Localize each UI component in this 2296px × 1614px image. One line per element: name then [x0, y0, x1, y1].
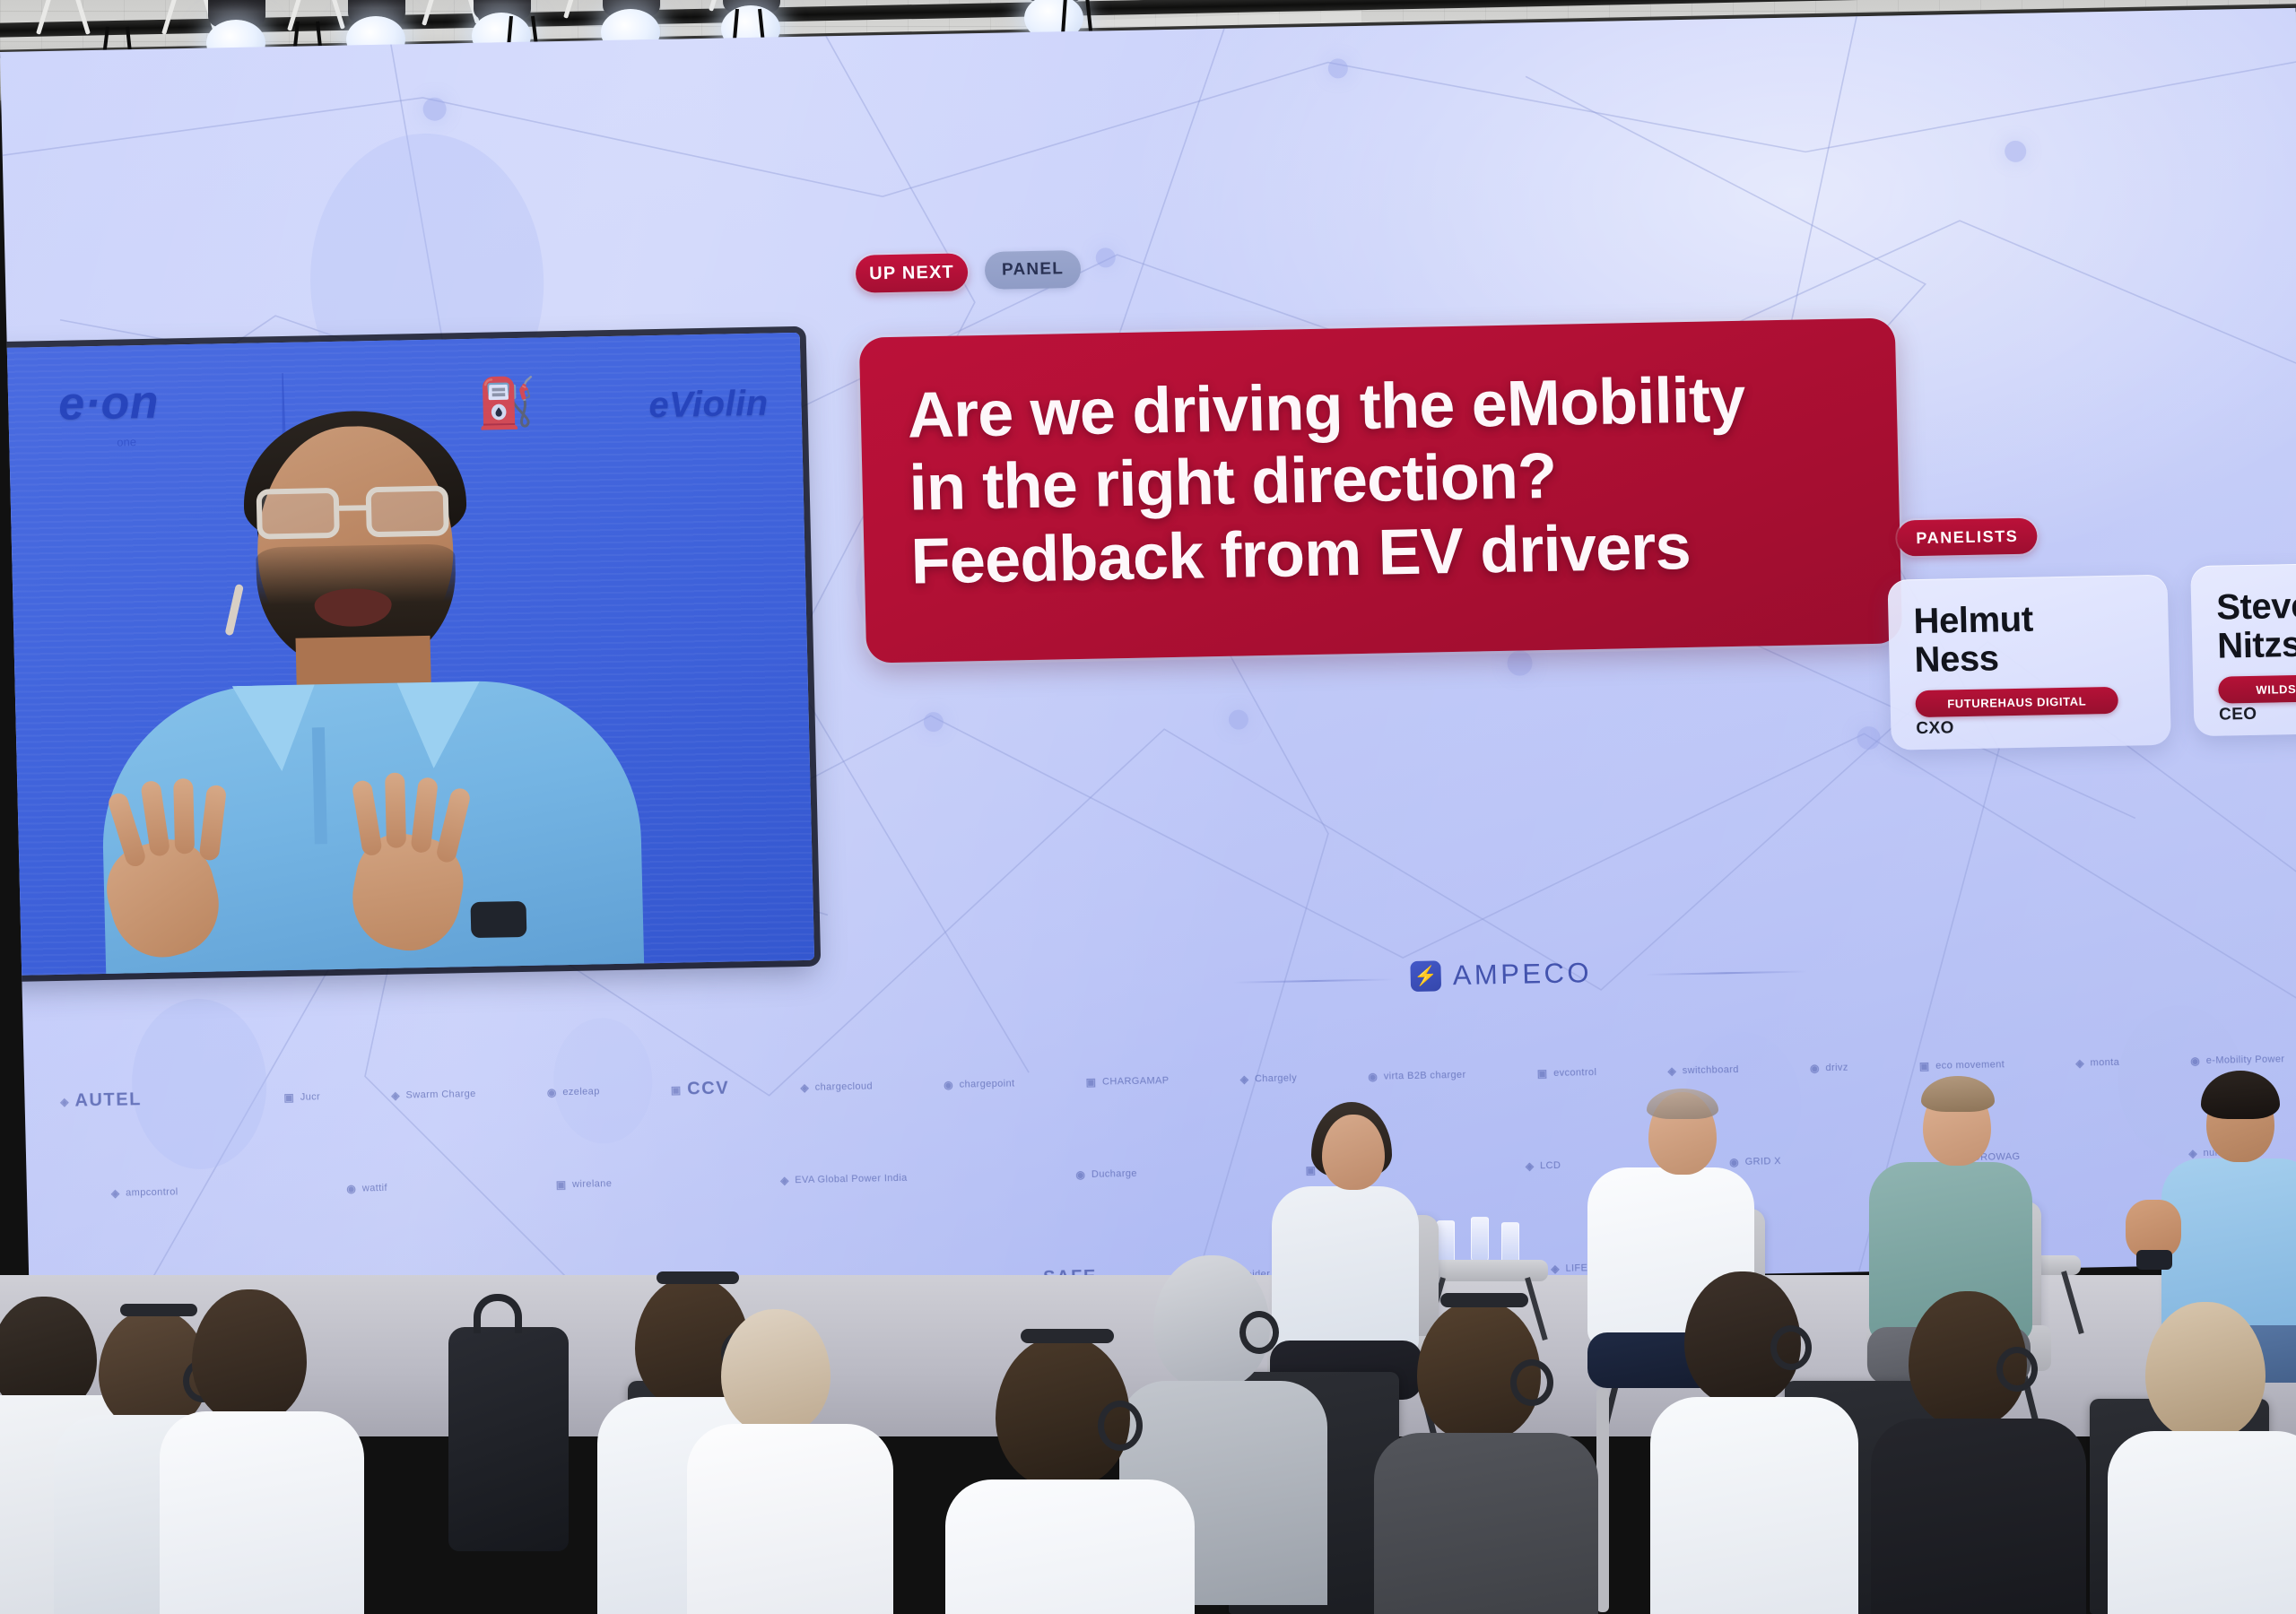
- session-title-line-3: Feedback from EV drivers: [910, 511, 1692, 598]
- audience-headset: [1239, 1311, 1279, 1354]
- speaker-glasses-right: [366, 485, 449, 537]
- conference-photo: e·on one ⛽ eViolin: [0, 0, 2296, 1614]
- panelist-2-role: CEO: [2219, 701, 2296, 725]
- audience-headset: [1996, 1347, 2038, 1392]
- sponsor-logo-text: wattif: [362, 1183, 387, 1194]
- audience-headset: [1510, 1359, 1553, 1406]
- sponsor-logo: ▣Jucr: [283, 1090, 320, 1104]
- speaker-finger: [385, 772, 406, 847]
- audience-headset-band: [1021, 1329, 1114, 1343]
- sponsor-logo-text: Ducharge: [1091, 1168, 1137, 1180]
- sponsor-logo: ◈switchboard: [1667, 1063, 1739, 1077]
- audience-body: [2108, 1431, 2296, 1614]
- sponsor-logo-mark: ▣: [283, 1090, 294, 1103]
- sponsor-logo: ◈ampcontrol: [111, 1185, 178, 1199]
- sponsor-logo-text: monta: [2090, 1056, 2119, 1068]
- speaker-video-feed: e·on one ⛽ eViolin: [0, 333, 814, 976]
- panelist-2-firstname: Steve: [2216, 586, 2296, 628]
- sponsor-logo: ◈LCD: [1526, 1159, 1561, 1173]
- sponsor-logo: ▣wirelane: [556, 1177, 613, 1191]
- feed-backdrop-logo-eviolin: eViolin: [648, 384, 769, 427]
- sponsor-logo-mark: ◈: [1240, 1072, 1249, 1085]
- badge-format-panel: PANEL: [985, 250, 1082, 290]
- audience-head: [721, 1309, 831, 1435]
- sponsor-logo: ◈monta: [2075, 1055, 2119, 1069]
- sponsor-logo-text: LCD: [1540, 1160, 1561, 1171]
- sponsor-logo-text: ezeleap: [562, 1086, 600, 1098]
- panelist-1-role: CXO: [1916, 716, 2145, 740]
- audience-body: [945, 1479, 1195, 1614]
- sponsor-logo-mark: ◈: [1667, 1064, 1676, 1077]
- panelist-card-2: Steve Nitzschne WILDSTYLE NETWORK CEO: [2190, 560, 2296, 736]
- sponsor-logo: ◉Ducharge: [1075, 1167, 1137, 1181]
- sponsor-logo-mark: ◉: [1368, 1070, 1378, 1082]
- sponsor-logo-mark: ◈: [391, 1089, 400, 1101]
- sponsor-logo-text: drivz: [1825, 1062, 1848, 1072]
- sponsor-logo: ▣CHARGAMAP: [1086, 1074, 1170, 1089]
- sponsor-logo-text: chargepoint: [959, 1078, 1014, 1089]
- audience-body: [160, 1411, 364, 1614]
- ampeco-logo: ⚡ AMPECO: [1410, 957, 1592, 993]
- sponsor-logo-text: CHARGAMAP: [1102, 1075, 1170, 1087]
- feed-backdrop-ev-icon: ⛽: [476, 376, 538, 433]
- sponsor-logo-text: e-Mobility Power: [2206, 1054, 2285, 1066]
- panelist-1-company: FUTUREHAUS DIGITAL: [1915, 687, 2118, 717]
- backpack-handle: [474, 1294, 522, 1333]
- sponsor-logo: ◈EVA Global Power India: [780, 1172, 908, 1187]
- sponsor-logo: ◈AUTEL: [60, 1089, 142, 1112]
- sponsor-logo-text: Jucr: [300, 1091, 321, 1102]
- sponsor-logo-mark: ◉: [2190, 1054, 2200, 1067]
- sponsor-logo-mark: ▣: [556, 1178, 567, 1191]
- sponsor-logo: ◉GRID X: [1729, 1155, 1781, 1168]
- sponsor-logo-mark: ◈: [800, 1080, 809, 1093]
- sponsor-logo-mark: ▣: [1086, 1075, 1097, 1088]
- sponsor-logo: ◉wattif: [346, 1182, 387, 1195]
- panelist-1-lastname: Ness: [1914, 639, 1999, 681]
- sponsor-logo-mark: ◈: [1551, 1262, 1560, 1274]
- panelist-1-firstname: Helmut: [1913, 600, 2033, 642]
- sponsor-logo-text: ampcontrol: [126, 1186, 178, 1198]
- sponsor-logo-mark: ▣: [1919, 1059, 1930, 1072]
- panelist-head: [1322, 1115, 1385, 1190]
- sponsor-logo: ◈chargecloud: [800, 1080, 873, 1094]
- sponsor-logo: ▣evcontrol: [1537, 1066, 1597, 1080]
- panelist-2-company: WILDSTYLE NETWORK: [2218, 672, 2296, 704]
- panelist-torso: [1272, 1186, 1419, 1357]
- sponsor-logo-text: eco movement: [1935, 1059, 2005, 1071]
- audience-head: [2145, 1302, 2266, 1440]
- audience-headset-band: [120, 1304, 197, 1316]
- sponsor-logo-text: evcontrol: [1553, 1067, 1597, 1079]
- sponsor-logo-text: switchboard: [1683, 1063, 1739, 1075]
- sponsor-logo: ▣eco movement: [1919, 1058, 2005, 1072]
- sponsor-logo: ◉e-Mobility Power: [2190, 1053, 2284, 1067]
- audience-body: [687, 1424, 893, 1614]
- sponsor-logo-mark: ▣: [671, 1083, 682, 1096]
- sponsor-logo-mark: ◈: [2188, 1147, 2197, 1159]
- session-title-line-2: in the right direction?: [909, 440, 1557, 525]
- sponsor-logo: ◈Swarm Charge: [391, 1088, 476, 1102]
- audience-body: [1871, 1419, 2086, 1614]
- sponsor-logo-mark: ◉: [1075, 1168, 1085, 1181]
- sponsor-logo-text: Swarm Charge: [405, 1089, 475, 1100]
- sponsor-logo-mark: ◉: [1810, 1062, 1820, 1074]
- sponsor-logo-mark: ▣: [1537, 1067, 1548, 1080]
- sponsor-logo-mark: ◉: [1729, 1156, 1739, 1168]
- sponsor-logo: ◉virta B2B charger: [1368, 1068, 1466, 1082]
- speaker-glasses-left: [257, 488, 340, 540]
- panelist-card-1: Helmut Ness FUTUREHAUS DIGITAL CXO: [1887, 575, 2170, 751]
- audience-headset-band: [657, 1271, 739, 1284]
- water-glass: [1471, 1217, 1489, 1263]
- audience-headset: [1770, 1325, 1812, 1370]
- sponsor-logo-mark: ◉: [547, 1086, 557, 1098]
- speaker-glasses-bridge: [337, 505, 371, 511]
- sponsor-logo-mark: ◈: [60, 1095, 69, 1107]
- audience-headset: [1098, 1401, 1143, 1451]
- panelist-watch: [2136, 1250, 2172, 1270]
- audience-body: [1374, 1433, 1598, 1614]
- sponsor-logo-mark: ◈: [111, 1187, 120, 1200]
- sponsor-logo: ▣CCV: [671, 1079, 730, 1100]
- sponsor-logo: ◉chargepoint: [944, 1077, 1015, 1091]
- feed-backdrop-logo-eon: e·on: [58, 376, 160, 431]
- sponsor-logo-text: CCV: [687, 1079, 730, 1100]
- audience-seat-frame: [1596, 1388, 1609, 1612]
- speaker-finger: [173, 778, 195, 854]
- sponsor-logo-text: virta B2B charger: [1384, 1069, 1466, 1081]
- sponsor-logo-text: EVA Global Power India: [795, 1173, 908, 1185]
- sponsor-logo-text: chargecloud: [815, 1080, 874, 1092]
- sponsor-logo-text: AUTEL: [74, 1089, 142, 1111]
- sponsor-logo-mark: ◈: [780, 1174, 789, 1186]
- audience-backpack: [448, 1327, 569, 1551]
- sponsor-logo-mark: ◈: [2075, 1056, 2084, 1069]
- speaker-watch: [470, 901, 526, 938]
- badge-up-next: UP NEXT: [856, 253, 969, 292]
- sponsor-logo-text: Chargely: [1255, 1072, 1298, 1084]
- audience-head: [192, 1289, 307, 1424]
- sponsor-logo-mark: ◉: [944, 1078, 953, 1090]
- session-title-line-1: Are we driving the eMobility: [907, 364, 1745, 452]
- sponsor-logo: ◉drivz: [1810, 1061, 1848, 1074]
- sponsor-logo-mark: ◈: [1526, 1159, 1535, 1172]
- sponsor-logo: ◈Chargely: [1240, 1072, 1298, 1085]
- sponsor-logo-text: wirelane: [572, 1178, 612, 1190]
- ampeco-wordmark: AMPECO: [1452, 957, 1592, 992]
- panelist-2-lastname: Nitzschne: [2217, 623, 2296, 666]
- sponsor-logo-text: GRID X: [1745, 1156, 1782, 1167]
- feed-backdrop-logo-eon-sub: one: [117, 435, 136, 448]
- session-title-card: Are we driving the eMobility in the righ…: [859, 317, 1902, 663]
- audience-body: [1650, 1397, 1858, 1614]
- sponsor-logo: ◉ezeleap: [547, 1085, 600, 1098]
- sponsor-logo-mark: ◉: [346, 1183, 356, 1195]
- ampeco-bolt-icon: ⚡: [1410, 960, 1441, 992]
- audience-headset-band: [1440, 1293, 1528, 1307]
